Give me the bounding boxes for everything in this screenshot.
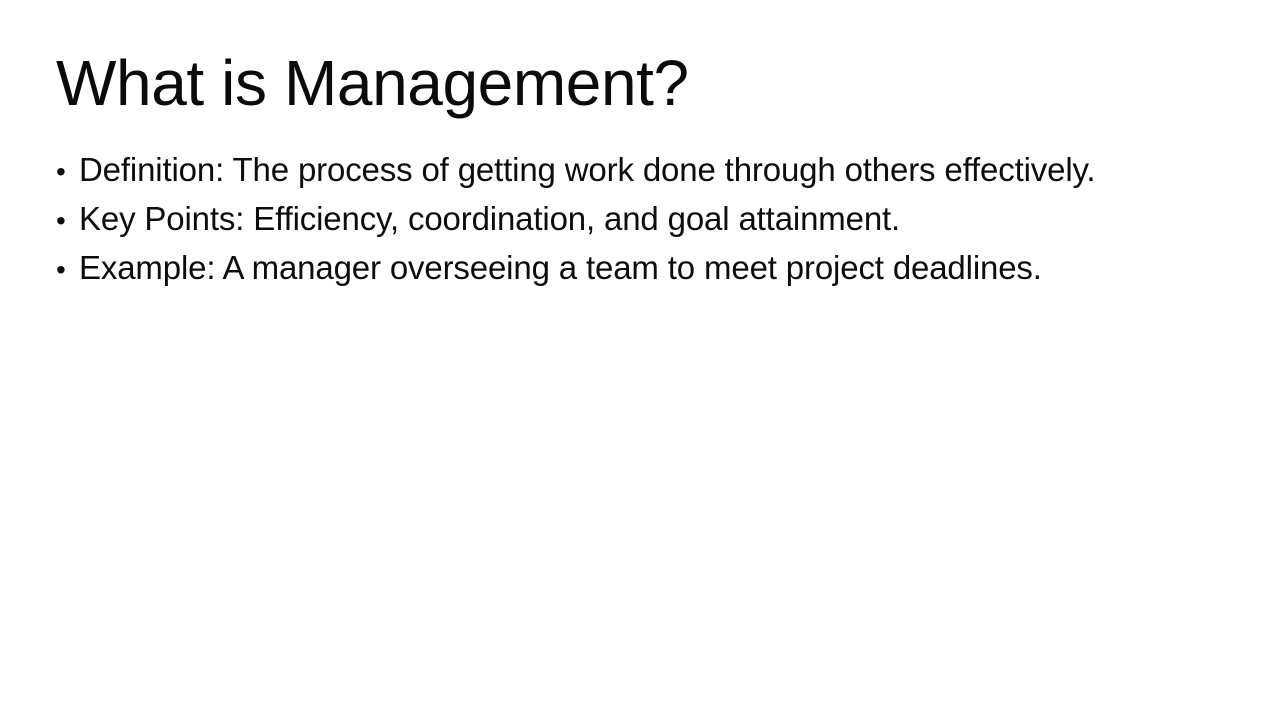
presentation-slide: What is Management? • Definition: The pr… xyxy=(0,0,1280,720)
list-item-text: Key Points: Efficiency, coordination, an… xyxy=(79,195,900,242)
list-item: • Example: A manager overseeing a team t… xyxy=(56,244,1236,293)
page-title: What is Management? xyxy=(56,50,689,117)
list-item-text: Example: A manager overseeing a team to … xyxy=(79,244,1042,291)
bullet-dot-icon: • xyxy=(56,148,79,195)
bullet-list: • Definition: The process of getting wor… xyxy=(56,146,1236,293)
list-item: • Definition: The process of getting wor… xyxy=(56,146,1236,195)
list-item-text: Definition: The process of getting work … xyxy=(79,146,1095,193)
bullet-dot-icon: • xyxy=(56,197,79,244)
list-item: • Key Points: Efficiency, coordination, … xyxy=(56,195,1236,244)
bullet-dot-icon: • xyxy=(56,246,79,293)
